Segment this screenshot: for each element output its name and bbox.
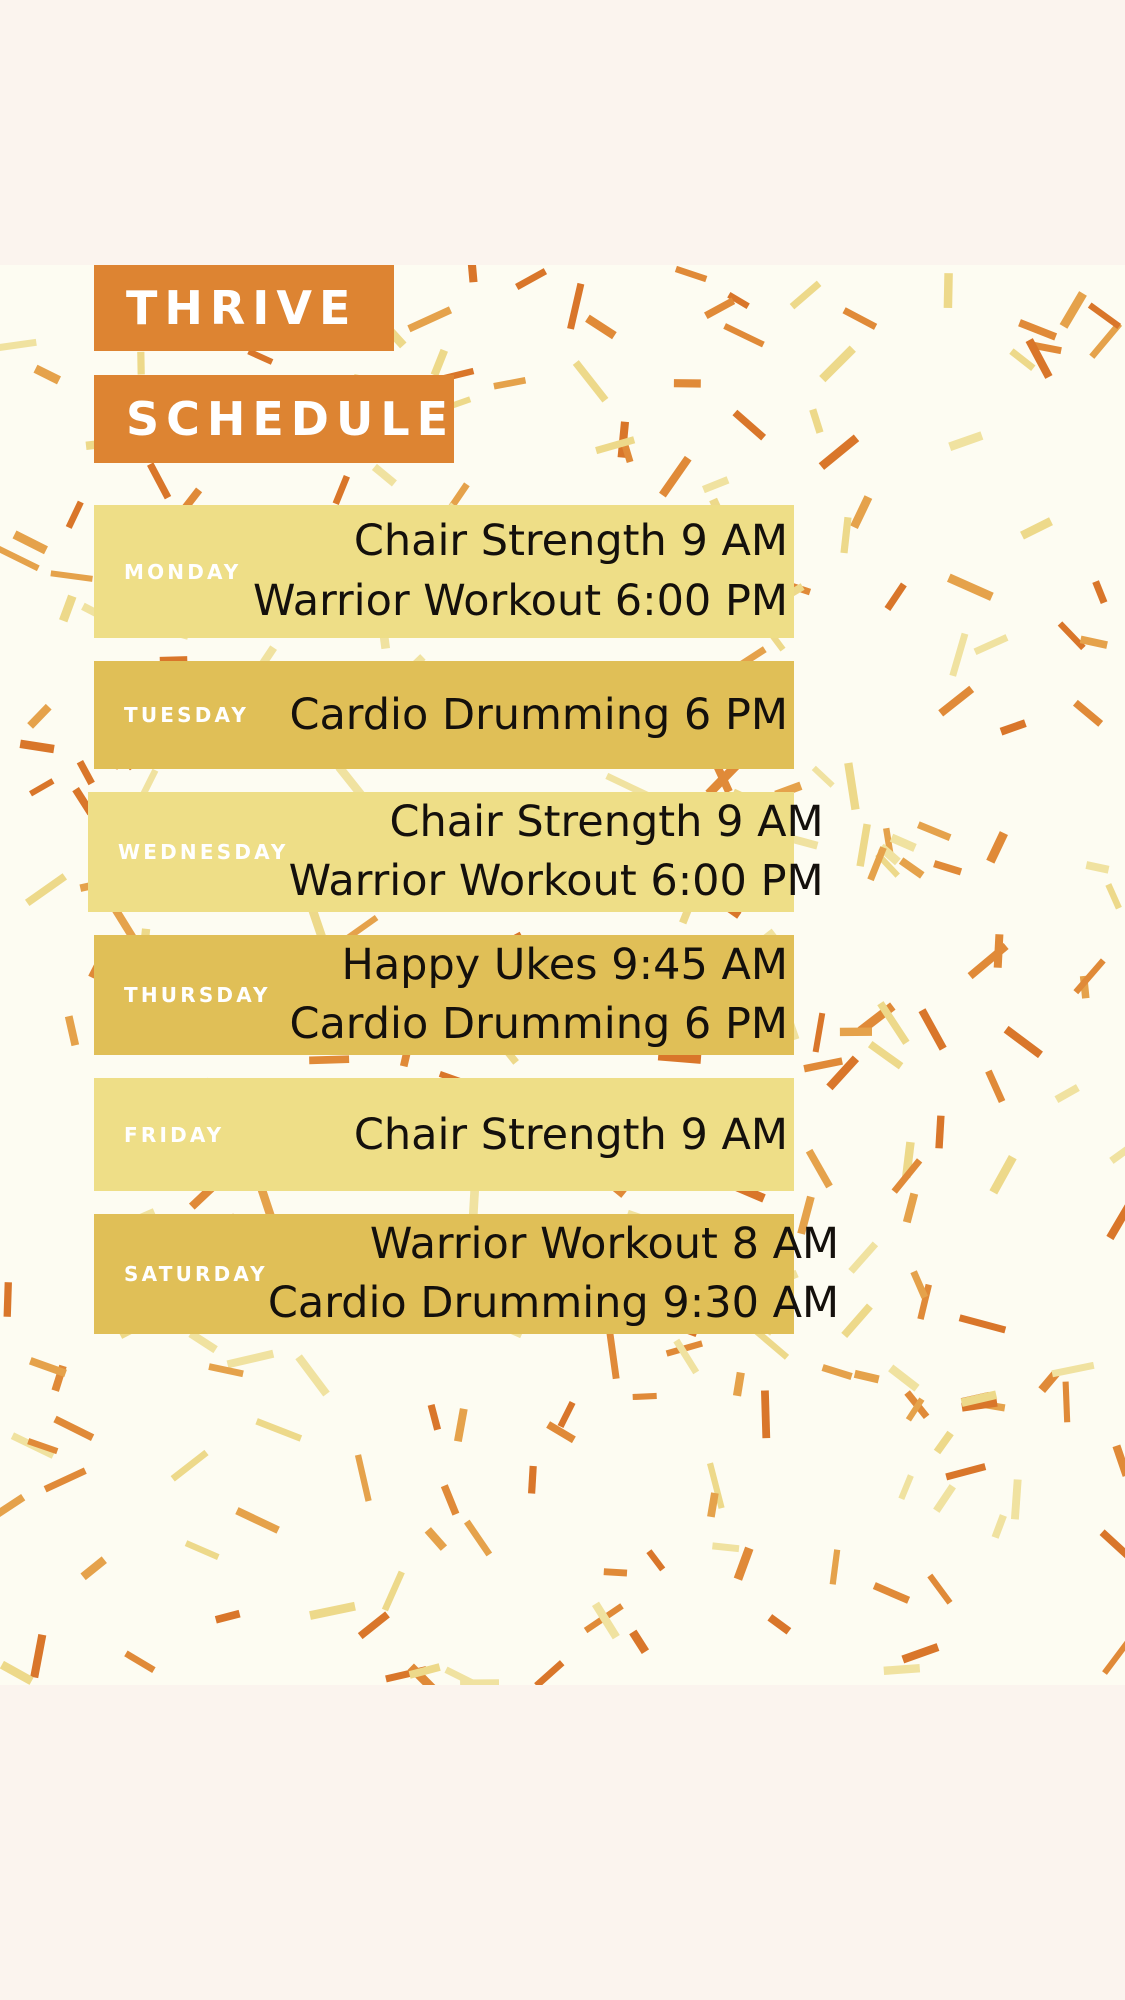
schedule-row-thursday: THURSDAYHappy Ukes 9:45 AMCardio Drummin…: [94, 935, 794, 1055]
class-entry: Happy Ukes 9:45 AM: [271, 936, 788, 995]
day-label-monday: MONDAY: [124, 562, 242, 582]
schedule-row-monday: MONDAYChair Strength 9 AMWarrior Workout…: [94, 505, 794, 638]
title-banner-thrive: THRIVE: [94, 265, 394, 351]
schedule-row-wednesday: WEDNESDAYChair Strength 9 AMWarrior Work…: [88, 792, 794, 912]
day-label-tuesday: TUESDAY: [124, 705, 249, 725]
poster-canvas: THRIVE SCHEDULE MONDAYChair Strength 9 A…: [0, 265, 1125, 1685]
day-label-thursday: THURSDAY: [124, 985, 271, 1005]
day-label-wednesday: WEDNESDAY: [118, 842, 289, 862]
class-entry: Warrior Workout 8 AM: [268, 1215, 839, 1274]
class-list: Chair Strength 9 AMWarrior Workout 6:00 …: [289, 793, 830, 912]
title-text-thrive: THRIVE: [126, 285, 357, 331]
class-list: Happy Ukes 9:45 AMCardio Drumming 6 PM: [271, 936, 794, 1055]
class-entry: Chair Strength 9 AM: [289, 793, 824, 852]
class-entry: Chair Strength 9 AM: [224, 1106, 788, 1165]
schedule-row-saturday: SATURDAYWarrior Workout 8 AMCardio Drumm…: [94, 1214, 794, 1334]
schedule-row-friday: FRIDAYChair Strength 9 AM: [94, 1078, 794, 1191]
class-entry: Chair Strength 9 AM: [242, 512, 789, 571]
class-entry: Cardio Drumming 6 PM: [249, 686, 788, 745]
class-list: Chair Strength 9 AMWarrior Workout 6:00 …: [242, 512, 795, 631]
class-list: Cardio Drumming 6 PM: [249, 684, 794, 745]
schedule-list: MONDAYChair Strength 9 AMWarrior Workout…: [0, 505, 1125, 1357]
class-entry: Cardio Drumming 9:30 AM: [268, 1274, 839, 1333]
class-entry: Cardio Drumming 6 PM: [271, 995, 788, 1054]
class-list: Warrior Workout 8 AMCardio Drumming 9:30…: [268, 1215, 845, 1334]
poster-content: THRIVE SCHEDULE MONDAYChair Strength 9 A…: [0, 265, 1125, 1685]
schedule-row-tuesday: TUESDAYCardio Drumming 6 PM: [94, 661, 794, 769]
poster-page: THRIVE SCHEDULE MONDAYChair Strength 9 A…: [0, 0, 1125, 2000]
class-list: Chair Strength 9 AM: [224, 1104, 794, 1165]
title-text-schedule: SCHEDULE: [126, 396, 455, 442]
class-entry: Warrior Workout 6:00 PM: [242, 572, 789, 631]
day-label-saturday: SATURDAY: [124, 1264, 268, 1284]
title-banner-schedule: SCHEDULE: [94, 375, 454, 463]
class-entry: Warrior Workout 6:00 PM: [289, 852, 824, 911]
day-label-friday: FRIDAY: [124, 1125, 224, 1145]
